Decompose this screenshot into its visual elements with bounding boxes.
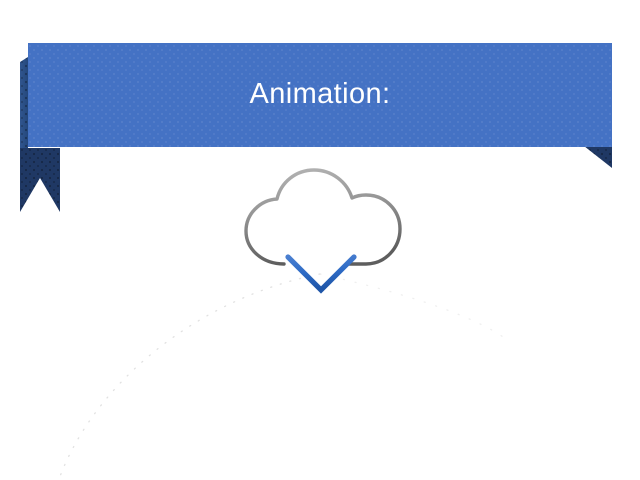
- ribbon-right-tail: [584, 146, 612, 168]
- slide-canvas: Animation:: [0, 0, 640, 480]
- ribbon-left-tail: [20, 148, 60, 212]
- ribbon-left-fold-strip: [20, 57, 28, 150]
- slide-title: Animation:: [28, 43, 612, 146]
- cloud-download-icon: [228, 165, 420, 305]
- download-arrow-icon: [288, 203, 354, 290]
